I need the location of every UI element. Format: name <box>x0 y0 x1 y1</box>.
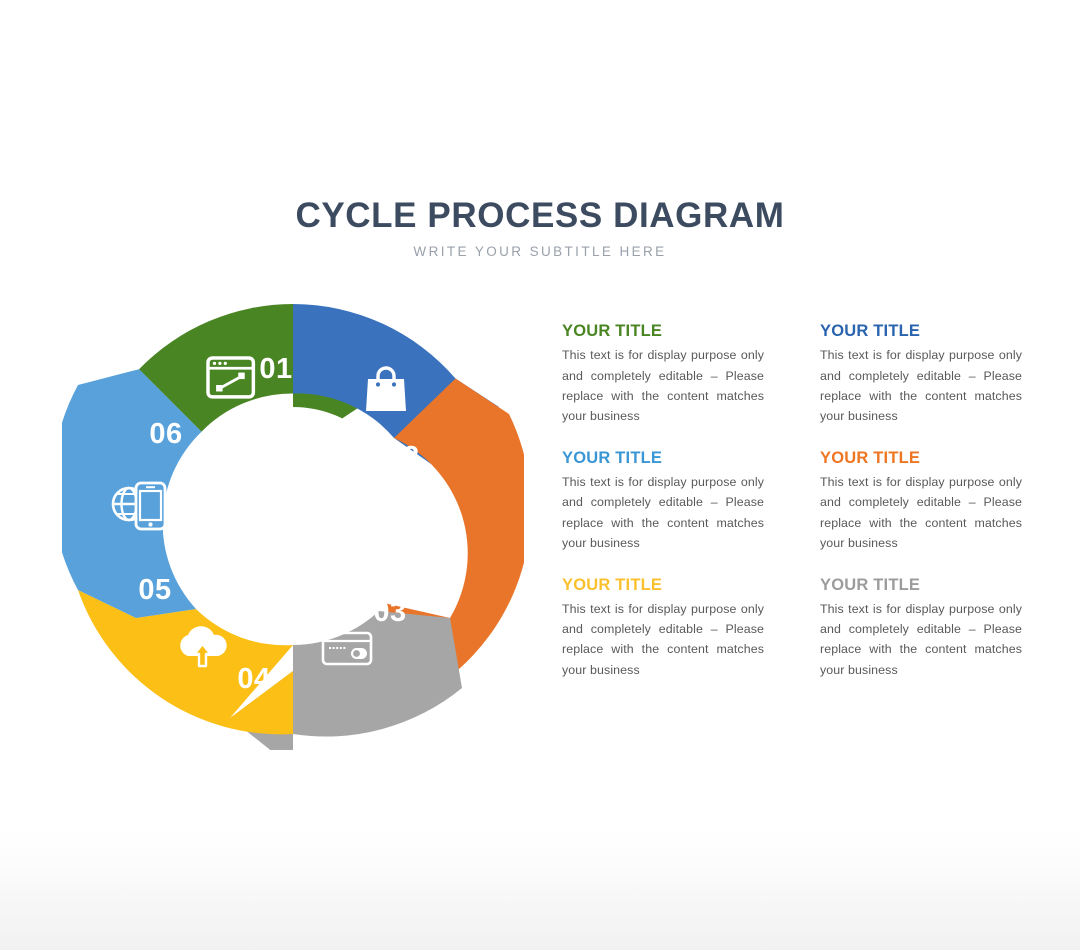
content-cell-5-body: This text is for display purpose only an… <box>562 599 764 681</box>
content-cell-3: YOUR TITLE This text is for display purp… <box>562 449 764 554</box>
content-row-1: YOUR TITLE This text is for display purp… <box>562 322 1042 427</box>
content-cell-6-title: YOUR TITLE <box>820 576 1022 594</box>
content-cell-2-title: YOUR TITLE <box>820 322 1022 340</box>
content-grid: YOUR TITLE This text is for display purp… <box>562 322 1042 702</box>
cycle-diagram-svg: 01 02 03 04 05 06 <box>62 288 524 750</box>
content-cell-3-title: YOUR TITLE <box>562 449 764 467</box>
content-cell-4-title: YOUR TITLE <box>820 449 1022 467</box>
segment-06-number: 06 <box>149 418 182 450</box>
content-cell-1: YOUR TITLE This text is for display purp… <box>562 322 764 427</box>
content-cell-2-body: This text is for display purpose only an… <box>820 345 1022 427</box>
segment-01-number: 01 <box>259 353 292 385</box>
slide-header: CYCLE PROCESS DIAGRAM WRITE YOUR SUBTITL… <box>0 198 1080 259</box>
content-cell-1-body: This text is for display purpose only an… <box>562 345 764 427</box>
content-cell-1-title: YOUR TITLE <box>562 322 764 340</box>
segment-05-number: 05 <box>138 574 171 606</box>
slide-canvas: CYCLE PROCESS DIAGRAM WRITE YOUR SUBTITL… <box>0 0 1080 950</box>
content-row-2: YOUR TITLE This text is for display purp… <box>562 449 1042 554</box>
content-cell-4: YOUR TITLE This text is for display purp… <box>820 449 1022 554</box>
content-cell-4-body: This text is for display purpose only an… <box>820 472 1022 554</box>
cycle-process-diagram: 01 02 03 04 05 06 <box>62 288 524 750</box>
content-cell-2: YOUR TITLE This text is for display purp… <box>820 322 1022 427</box>
content-cell-5-title: YOUR TITLE <box>562 576 764 594</box>
page-subtitle: WRITE YOUR SUBTITLE HERE <box>0 244 1080 259</box>
page-title: CYCLE PROCESS DIAGRAM <box>0 198 1080 235</box>
segment-02-number: 02 <box>386 441 419 473</box>
content-cell-6-body: This text is for display purpose only an… <box>820 599 1022 681</box>
content-row-3: YOUR TITLE This text is for display purp… <box>562 576 1042 681</box>
content-cell-5: YOUR TITLE This text is for display purp… <box>562 576 764 681</box>
segment-03-number: 03 <box>373 596 406 628</box>
ring-inner-hole <box>181 407 405 631</box>
content-cell-6: YOUR TITLE This text is for display purp… <box>820 576 1022 681</box>
bottom-gradient-band <box>0 830 1080 950</box>
content-cell-3-body: This text is for display purpose only an… <box>562 472 764 554</box>
segment-04-number: 04 <box>237 663 270 695</box>
